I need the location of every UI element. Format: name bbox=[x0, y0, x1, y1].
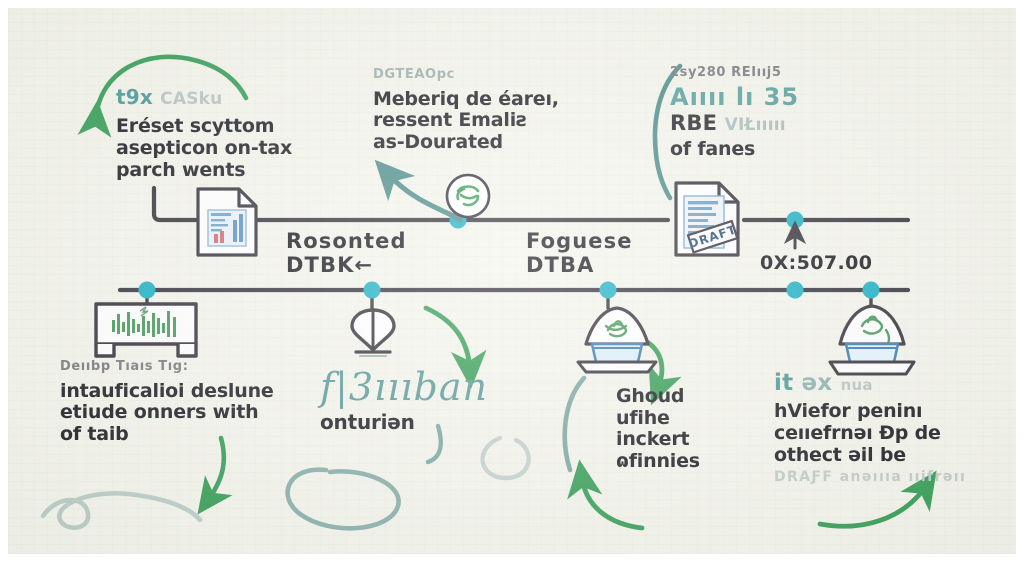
annotation-top-right-body: of fanes bbox=[670, 139, 799, 161]
recycle-circle-icon[interactable] bbox=[444, 172, 492, 220]
arrow-up-bottomright bbox=[820, 486, 926, 526]
annotation-bottom-left: Deııbp Tıaıs Tıg: intauficalioi deslune … bbox=[60, 360, 274, 446]
annotation-bottom-right-body: hViefor peninı ceııefrnəı Đp de othect ə… bbox=[774, 401, 966, 466]
loop-scribble-bottomleft bbox=[43, 493, 200, 527]
screenshot-root: DRAFT bbox=[0, 0, 1024, 576]
funnel-drop-icon[interactable] bbox=[344, 304, 402, 360]
annotation-bottom-mid: f|3ıııban onturiən bbox=[320, 366, 488, 434]
annotation-top-left: t9x CASku Eréset scyttom asepticon on-ta… bbox=[116, 86, 292, 181]
tray-plant-icon-2[interactable] bbox=[820, 302, 924, 378]
annotation-top-mid-body: Meberiq de éareı, ressent Emaliƨ as-Dour… bbox=[373, 89, 559, 154]
annotation-top-mid-scribble: DGTEAOpc bbox=[373, 68, 559, 83]
annotation-bottom-left-scribble: Deııbp Tıaıs Tıg: bbox=[60, 360, 274, 375]
annotation-top-right-heading: RBE VIŁııııı bbox=[670, 112, 799, 136]
arrow-down-bottommid bbox=[426, 308, 470, 370]
node-top-right[interactable] bbox=[787, 212, 804, 229]
whiteboard-canvas: DRAFT bbox=[8, 8, 1016, 554]
node-stems bbox=[147, 292, 871, 326]
annotation-bottom-mid-sub: onturiən bbox=[320, 411, 488, 434]
tray-plant-icon[interactable] bbox=[568, 304, 666, 376]
annotation-top-mid: DGTEAOpc Meberiq de éareı, ressent Emali… bbox=[373, 68, 559, 154]
top-axis-label-right: Foguese DTBA bbox=[526, 230, 633, 277]
bracket-bottommid2 bbox=[565, 378, 584, 470]
pale-loop-bottommid bbox=[483, 438, 529, 478]
annotation-bottom-mid-hand: f|3ıııban bbox=[320, 366, 488, 409]
annotation-bottom-mid2: Ghoud ufihe inckert ɷfinnies bbox=[616, 386, 700, 473]
annotation-top-right-hand: Aıııı lı 35 bbox=[670, 84, 799, 111]
circle-scribble-bottommid bbox=[288, 470, 399, 529]
annotation-bottom-left-body: intauficalioi deslune etiude onners with… bbox=[60, 381, 274, 446]
node-bottom-left[interactable] bbox=[139, 282, 156, 299]
annotation-bottom-right-draft: DRAƑF anəıııa ııifrəıı bbox=[774, 470, 966, 486]
draft-document-icon[interactable]: DRAFT bbox=[672, 180, 742, 258]
top-axis-label-left: Rosonted DTBK← bbox=[286, 230, 407, 277]
measure-label: 0X:507.00 bbox=[760, 253, 872, 275]
arrow-down-bottomleft bbox=[208, 438, 224, 500]
annotation-top-left-heading: t9x CASku bbox=[116, 86, 292, 109]
node-bottom-mid[interactable] bbox=[364, 282, 381, 299]
arrow-up-bottommid2 bbox=[582, 478, 642, 528]
node-bottom-right2[interactable] bbox=[863, 282, 880, 299]
node-bottom-right1[interactable] bbox=[787, 282, 804, 299]
annotation-top-right: 2sy280 REIııј5 Aıııı lı 35 RBE VIŁııııı … bbox=[670, 66, 799, 161]
annotation-bottom-right-heading: it əx nua bbox=[774, 370, 966, 396]
equipment-monitor-icon[interactable] bbox=[90, 300, 202, 362]
node-bottom-mid2[interactable] bbox=[600, 282, 617, 299]
report-document-icon[interactable] bbox=[194, 186, 260, 258]
annotation-top-left-body: Eréset scyttom asepticon on-tax parch we… bbox=[116, 116, 292, 181]
annotation-top-right-scribble: 2sy280 REIııј5 bbox=[670, 66, 799, 81]
annotation-bottom-right: it əx nua hViefor peninı ceııefrnəı Đp d… bbox=[774, 370, 966, 486]
